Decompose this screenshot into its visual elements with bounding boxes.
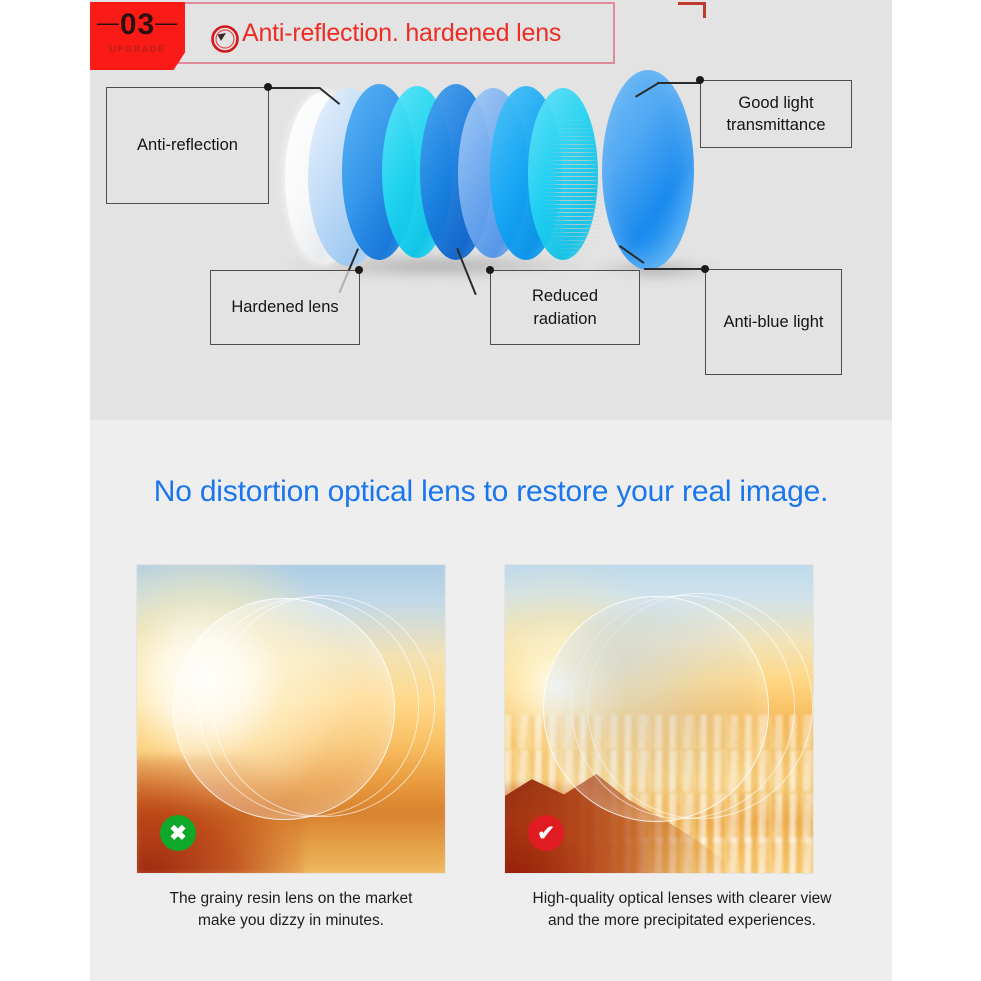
- leader-anti-blue-light-h: [644, 268, 706, 270]
- caption-bad-lens: The grainy resin lens on the market make…: [111, 888, 471, 933]
- callout-anti-reflection[interactable]: Anti-reflection: [106, 87, 269, 204]
- caption-good-lens: High-quality optical lenses with clearer…: [502, 888, 862, 933]
- leader-anti-blue-light: [619, 245, 644, 264]
- leader-good-light: [657, 82, 700, 84]
- brush-circle-icon: [208, 22, 242, 56]
- callout-good-light-transmittance[interactable]: Good light transmittance: [700, 80, 852, 148]
- callout-anti-reflection-label: Anti-reflection: [137, 134, 238, 156]
- section-header: —03— UPGRADE Anti-reflection. hardened l…: [90, 2, 615, 70]
- lens-layer-final-lens: [602, 70, 694, 270]
- badge-dash-right: —: [155, 10, 178, 35]
- callout-hardened-lens-label: Hardened lens: [231, 296, 338, 318]
- callout-reduced-radiation[interactable]: Reduced radiation: [490, 270, 640, 345]
- badge-dash-left: —: [97, 10, 120, 35]
- step-badge: —03— UPGRADE: [90, 2, 185, 70]
- leader-reduced-radiation: [457, 248, 477, 295]
- bad-lens-surface: [173, 598, 395, 820]
- check-mark-symbol: ✔: [537, 823, 555, 844]
- cross-mark-symbol: ✖: [169, 823, 187, 844]
- step-badge-number: —03—: [90, 10, 185, 40]
- caption-bad-lens-line2: make you dizzy in minutes.: [111, 910, 471, 932]
- infographic-page: Anti-reflection Good light transmittance…: [0, 0, 981, 981]
- photo-good-lens: ✔: [505, 565, 813, 873]
- leader-anti-reflection-angled: [319, 87, 340, 105]
- callout-anti-reflection-dot: [264, 83, 272, 91]
- lens-layer-bright-blue: [490, 86, 562, 260]
- callout-anti-blue-light-label: Anti-blue light: [724, 311, 824, 333]
- callout-hardened-lens[interactable]: Hardened lens: [210, 270, 360, 345]
- comparison-section: No distortion optical lens to restore yo…: [90, 420, 892, 981]
- caption-good-lens-line1: High-quality optical lenses with clearer…: [502, 888, 862, 910]
- lens-layer-deep-blue: [420, 84, 492, 260]
- callout-good-light-dot: [696, 76, 704, 84]
- lens-texture-hatch: [545, 112, 607, 267]
- leader-anti-reflection: [268, 87, 320, 89]
- callout-good-light-line2: transmittance: [726, 114, 825, 136]
- header-corner-bracket: [678, 2, 706, 18]
- lens-layer-cyan: [382, 86, 452, 258]
- section-header-title: Anti-reflection. hardened lens: [242, 19, 561, 48]
- comparison-headline: No distortion optical lens to restore yo…: [90, 475, 892, 509]
- callout-reduced-radiation-dot: [486, 266, 494, 274]
- leader-good-light-angled: [635, 82, 660, 98]
- step-badge-number-value: 03: [120, 8, 155, 41]
- lens-layer-soft-blue: [458, 88, 528, 258]
- callout-reduced-radiation-line2: radiation: [533, 308, 596, 330]
- check-mark-icon: ✔: [528, 815, 564, 851]
- callout-anti-blue-light[interactable]: Anti-blue light: [705, 269, 842, 375]
- photo-bad-lens: ✖: [137, 565, 445, 873]
- lens-diagram-section: Anti-reflection Good light transmittance…: [90, 0, 892, 420]
- caption-good-lens-line2: and the more precipitated experiences.: [502, 910, 862, 932]
- cross-mark-icon: ✖: [160, 815, 196, 851]
- good-lens-surface: [543, 596, 769, 822]
- step-badge-subtitle: UPGRADE: [90, 44, 185, 54]
- callout-reduced-radiation-line1: Reduced: [532, 285, 598, 307]
- callout-hardened-lens-dot: [355, 266, 363, 274]
- lens-layer-blue: [342, 84, 416, 260]
- lens-layer-aqua: [528, 88, 598, 260]
- callout-anti-blue-light-dot: [701, 265, 709, 273]
- callout-good-light-line1: Good light: [738, 92, 813, 114]
- lens-layer-clear-coat: [285, 92, 363, 264]
- caption-bad-lens-line1: The grainy resin lens on the market: [111, 888, 471, 910]
- lens-layer-light-blue: [308, 88, 390, 266]
